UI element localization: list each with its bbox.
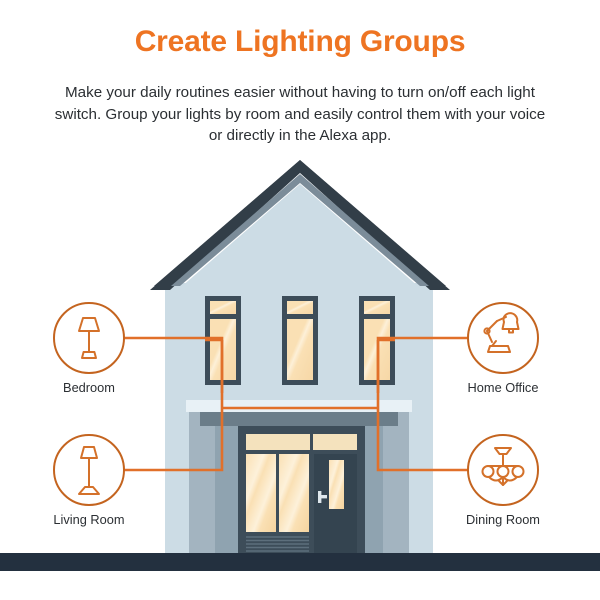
house-roof	[150, 160, 450, 290]
house-illustration: Bedroom Living Room	[0, 0, 600, 600]
illustration-canvas: Create Lighting Groups Make your daily r…	[0, 0, 600, 600]
dining-room-label: Dining Room	[466, 512, 540, 527]
dining-room-circle[interactable]	[468, 435, 538, 505]
node-bedroom[interactable]: Bedroom	[54, 303, 124, 395]
ground-bar	[0, 553, 600, 571]
window-center	[282, 296, 318, 385]
node-home-office[interactable]: Home Office	[468, 303, 539, 395]
door-handle-plate	[318, 491, 321, 503]
home-office-circle[interactable]	[468, 303, 538, 373]
glass-panel-2	[279, 454, 309, 532]
living-room-label: Living Room	[53, 512, 124, 527]
bedroom-label: Bedroom	[63, 380, 115, 395]
door-window	[329, 460, 344, 509]
glass-panel-1	[246, 454, 276, 532]
transom-right	[313, 434, 357, 450]
facade-lintel	[200, 412, 398, 426]
transom-left	[246, 434, 310, 450]
entrance	[238, 426, 365, 553]
home-office-label: Home Office	[468, 380, 539, 395]
node-dining-room[interactable]: Dining Room	[466, 435, 540, 527]
node-living-room[interactable]: Living Room	[53, 435, 124, 527]
